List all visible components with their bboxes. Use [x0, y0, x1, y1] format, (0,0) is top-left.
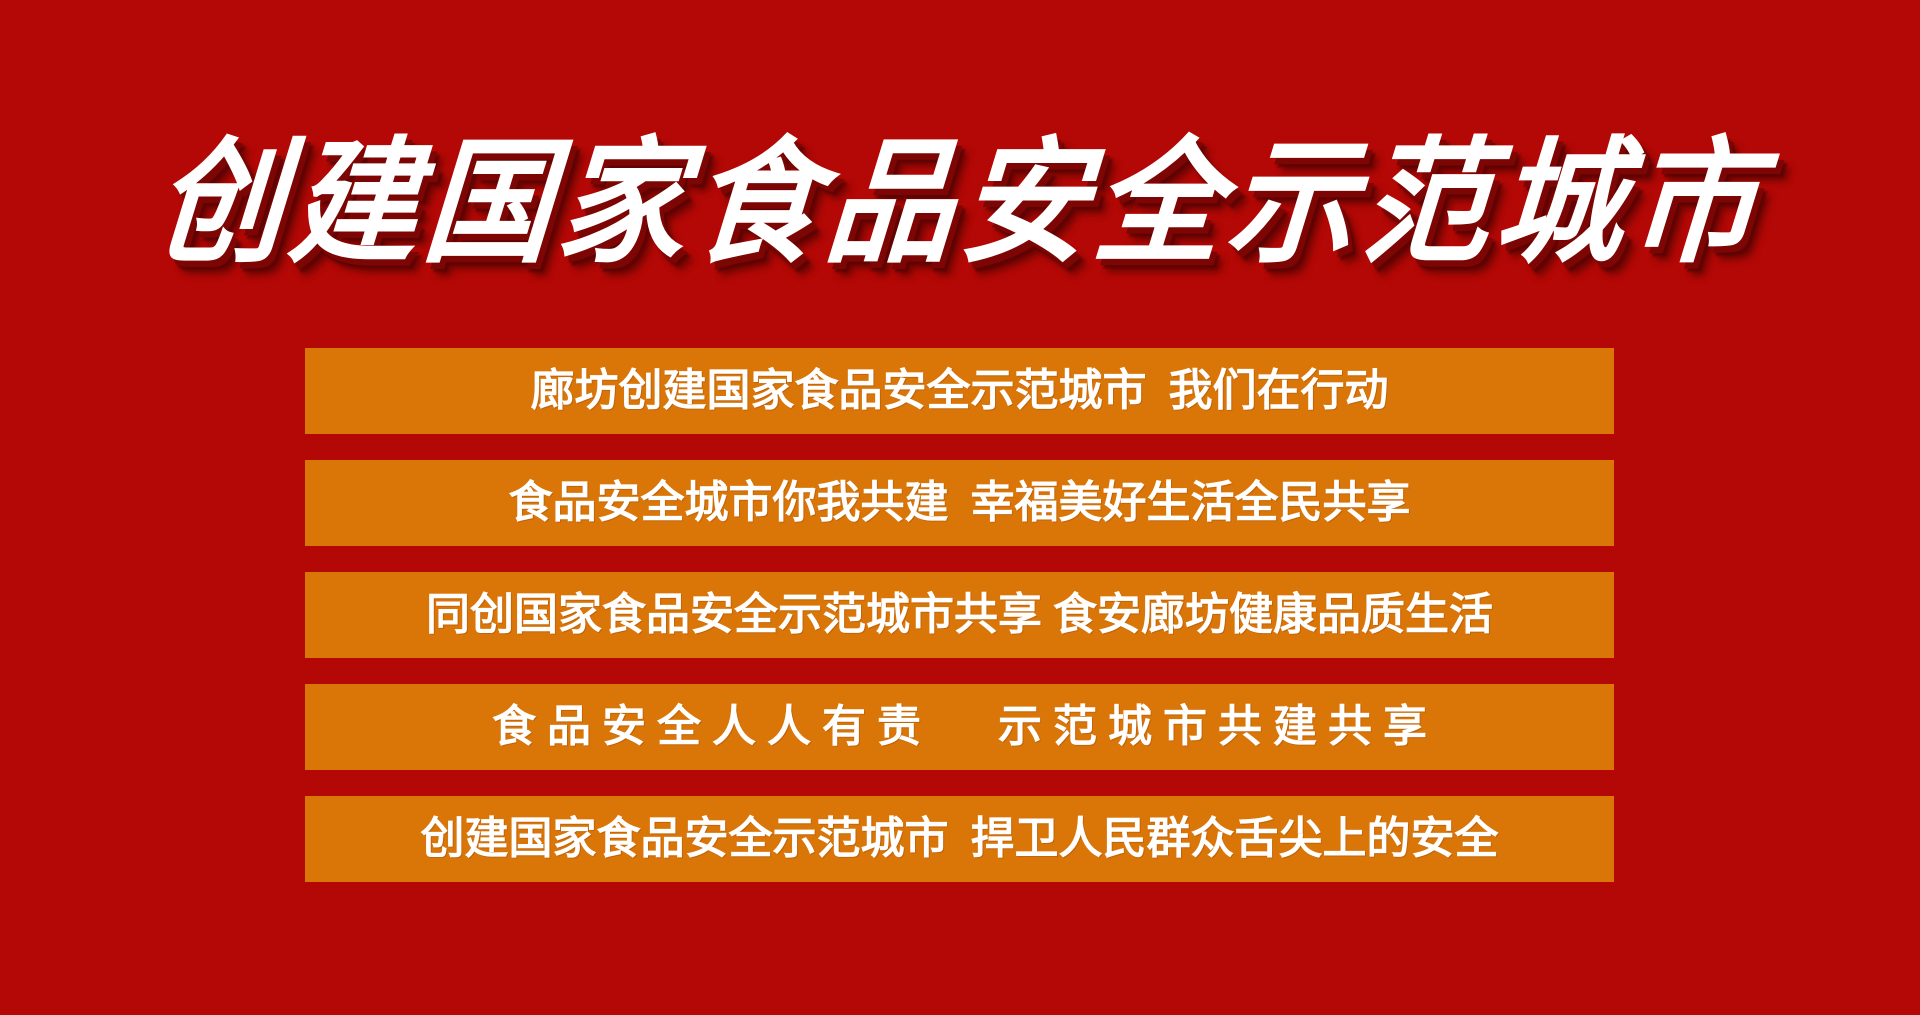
slogan-band: 食品安全城市你我共建 幸福美好生活全民共享	[305, 460, 1614, 546]
slogan-band-text: 同创国家食品安全示范城市共享 食安廊坊健康品质生活	[426, 593, 1493, 637]
slogan-band-list: 廊坊创建国家食品安全示范城市 我们在行动 食品安全城市你我共建 幸福美好生活全民…	[305, 348, 1614, 882]
page-title: 创建国家食品安全示范城市	[151, 135, 1769, 271]
slogan-band-text: 食品安全人人有责 示范城市共建共享	[481, 705, 1438, 749]
slogan-band: 廊坊创建国家食品安全示范城市 我们在行动	[305, 348, 1614, 434]
slogan-band: 创建国家食品安全示范城市 捍卫人民群众舌尖上的安全	[305, 796, 1614, 882]
slogan-band: 同创国家食品安全示范城市共享 食安廊坊健康品质生活	[305, 572, 1614, 658]
slogan-band-text: 创建国家食品安全示范城市 捍卫人民群众舌尖上的安全	[421, 817, 1499, 861]
poster-canvas: 创建国家食品安全示范城市 廊坊创建国家食品安全示范城市 我们在行动 食品安全城市…	[0, 0, 1920, 1015]
slogan-band-text: 食品安全城市你我共建 幸福美好生活全民共享	[509, 481, 1411, 525]
slogan-band-text: 廊坊创建国家食品安全示范城市 我们在行动	[531, 369, 1389, 413]
slogan-band: 食品安全人人有责 示范城市共建共享	[305, 684, 1614, 770]
headline-container: 创建国家食品安全示范城市	[0, 108, 1920, 298]
